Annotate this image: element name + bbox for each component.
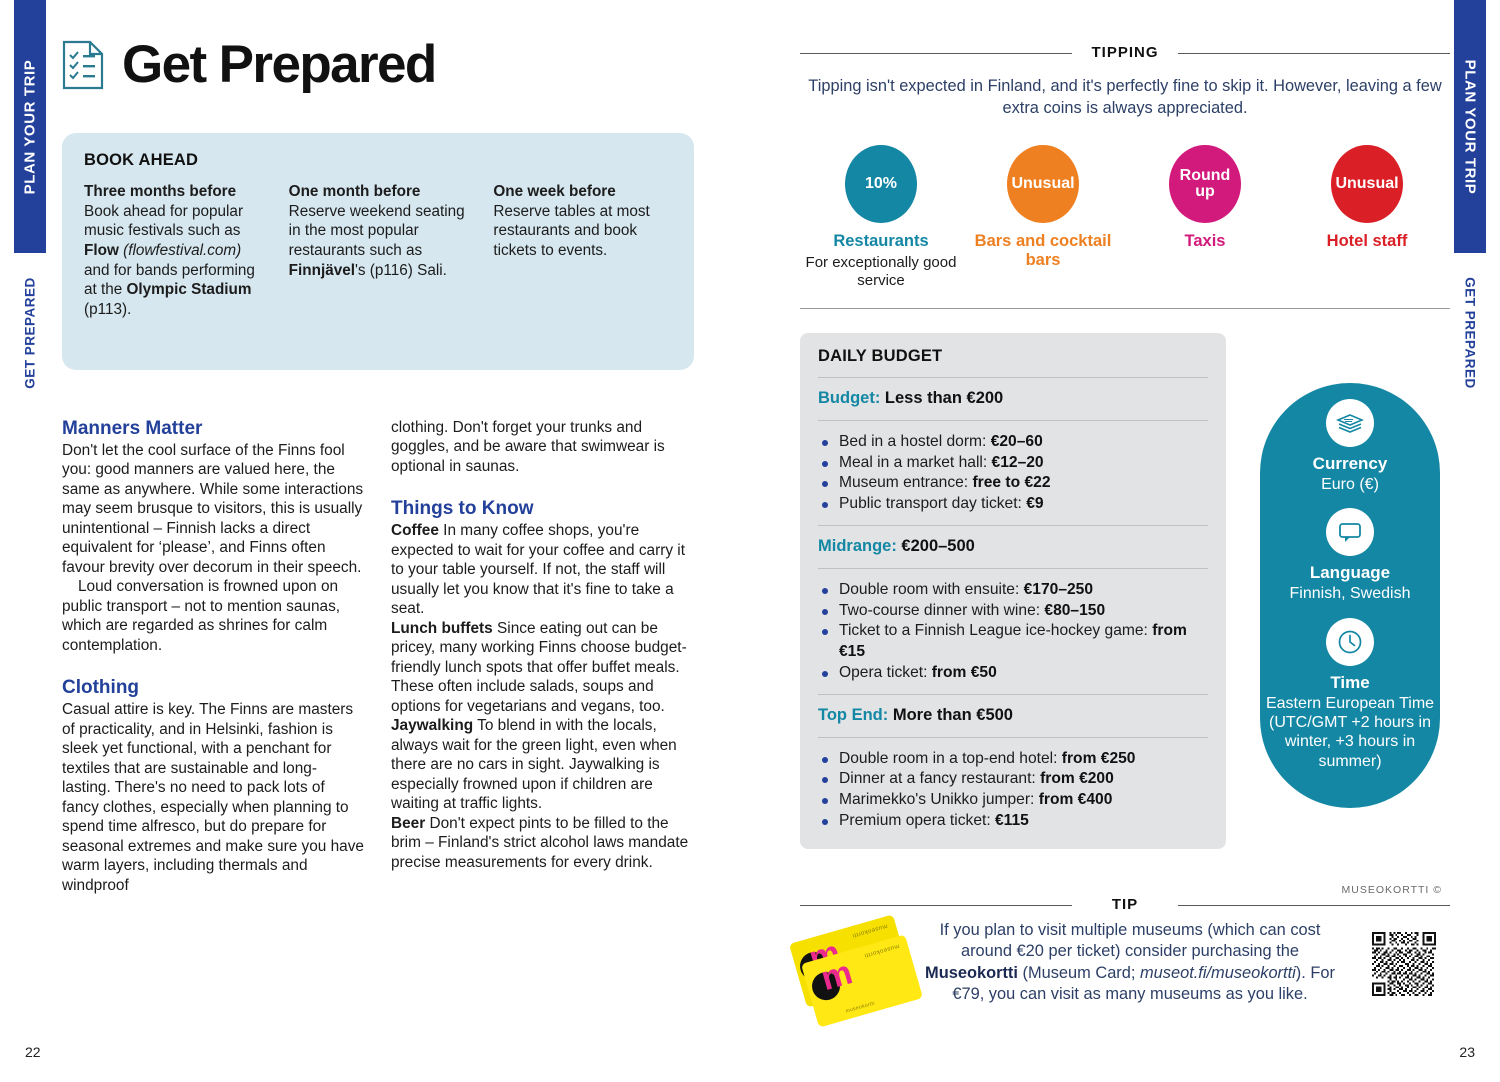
budget-list-item: Opera ticket: from €50 [818,663,1208,684]
tip-text: If you plan to visit multiple museums (w… [920,920,1340,1006]
tier-name: Budget: [818,389,880,407]
tipping-label-taxis: Taxis [1124,232,1286,251]
photo-credit: MUSEOKORTTI © [1342,884,1442,896]
tipping-section-header: TIPPING [800,44,1450,62]
spine-subtab-get-prepared-left: GET PREPARED [14,253,46,413]
tipping-sub-restaurants: For exceptionally good service [800,254,962,290]
fact-currency: Currency Euro (€) [1260,399,1440,494]
budget-list-item: Bed in a hostel dorm: €20–60 [818,432,1208,453]
tipping-intro-text: Tipping isn't expected in Finland, and i… [800,76,1450,119]
fact-title-currency: Currency [1260,454,1440,474]
item-price: €12–20 [992,454,1044,471]
item-price: free to €22 [972,474,1050,491]
tip-section-header: TIP [800,896,1450,914]
spine-tab-label-left: PLAN YOUR TRIP [22,59,39,194]
book-ahead-bold: Olympic Stadium [127,281,252,298]
budget-list-item: Double room in a top-end hotel: from €25… [818,749,1208,770]
fact-time: Time Eastern European Time (UTC/GMT +2 h… [1260,618,1440,771]
item-text: Bed in a hostel dorm: [839,433,991,450]
clothing-paragraph: Casual attire is key. The Finns are mast… [62,700,365,895]
museum-card-photo: m museokortti m museokortti museokortti [790,918,930,1023]
page-number-left: 22 [25,1044,41,1060]
book-ahead-text: Reserve weekend seating in the most popu… [289,203,465,259]
tier-value: €200–500 [897,537,975,555]
item-text: Ticket to a Finnish League ice-hockey ga… [839,622,1152,639]
entry-text: Don't expect pints to be filled to the b… [391,815,688,871]
tipping-label-bars: Bars and cocktail bars [962,232,1124,270]
tipping-badge-bars: Unusual [1007,145,1079,223]
item-text: Premium opera ticket: [839,812,995,829]
fact-title-time: Time [1260,673,1440,693]
budget-list-item: Double room with ensuite: €170–250 [818,580,1208,601]
budget-list-item: Ticket to a Finnish League ice-hockey ga… [818,621,1208,662]
section-heading-clothing: Clothing [62,677,365,699]
budget-tier-list: Bed in a hostel dorm: €20–60 Meal in a m… [818,432,1208,514]
manners-paragraph-2: Loud conversation is frowned upon on pub… [62,577,365,655]
item-text: Public transport day ticket: [839,495,1026,512]
clock-icon [1326,618,1374,666]
item-price: from €200 [1040,770,1114,787]
tip-block: TIP m museokortti m museokortti museokor… [800,896,1450,914]
page-title-row: Get Prepared [62,38,436,91]
card-brand-text: museokortti [852,922,889,938]
tipping-item-bars: Unusual Bars and cocktail bars [962,145,1124,290]
things-to-know-entry: Lunch buffets Since eating out can be pr… [391,619,694,716]
book-ahead-panel: BOOK AHEAD Three months before Book ahea… [62,133,694,370]
budget-list-item: Public transport day ticket: €9 [818,494,1208,515]
book-ahead-text: 's (p116) Sali. [355,262,447,279]
tier-value: More than €500 [888,706,1013,724]
right-page: TIPPING Tipping isn't expected in Finlan… [800,0,1450,1082]
tier-value: Less than €200 [880,389,1003,407]
item-text: Museum entrance: [839,474,972,491]
tipping-item-hotel-staff: Unusual Hotel staff [1286,145,1448,290]
tip-text-part: If you plan to visit multiple museums (w… [940,921,1321,960]
things-to-know-entry: Jaywalking To blend in with the locals, … [391,716,694,813]
budget-list-item: Marimekko's Unikko jumper: from €400 [818,790,1208,811]
budget-tier-heading: Budget: Less than €200 [818,389,1208,409]
budget-tier-list: Double room in a top-end hotel: from €25… [818,749,1208,831]
divider [818,568,1208,569]
tip-text-part: (Museum Card; [1018,964,1140,982]
book-ahead-text: (p113). [84,301,131,318]
divider [818,420,1208,421]
left-page: Get Prepared BOOK AHEAD Three months bef… [62,0,712,1082]
item-text: Double room with ensuite: [839,581,1024,598]
tipping-badge-taxis: Round up [1169,145,1241,223]
book-spread: PLAN YOUR TRIP GET PREPARED PLAN YOUR TR… [0,0,1500,1082]
book-ahead-column-heading: One month before [289,182,468,202]
budget-list-item: Two-course dinner with wine: €80–150 [818,601,1208,622]
budget-tier-heading: Top End: More than €500 [818,706,1208,726]
item-price: €115 [995,812,1029,829]
tipping-item-taxis: Round up Taxis [1124,145,1286,290]
spine-tab-plan-your-trip-left: PLAN YOUR TRIP [14,0,46,253]
item-price: €170–250 [1024,581,1093,598]
things-to-know-entry: Beer Don't expect pints to be filled to … [391,814,694,872]
tip-url: museot.fi/museokortti [1140,964,1296,982]
divider [818,525,1208,526]
book-ahead-bold: Flow [84,242,119,259]
budget-tier-list: Double room with ensuite: €170–250 Two-c… [818,580,1208,683]
item-text: Dinner at a fancy restaurant: [839,770,1040,787]
speech-bubble-icon [1326,508,1374,556]
manners-paragraph-1: Don't let the cool surface of the Finns … [62,441,365,577]
budget-list-item: Meal in a market hall: €12–20 [818,453,1208,474]
daily-budget-panel: DAILY BUDGET Budget: Less than €200 Bed … [800,333,1226,849]
tipping-label-restaurants: Restaurants [800,232,962,251]
budget-list-item: Premium opera ticket: €115 [818,811,1208,832]
banknotes-icon [1326,399,1374,447]
section-heading-manners-matter: Manners Matter [62,418,365,440]
book-ahead-column: Three months before Book ahead for popul… [84,182,263,320]
book-ahead-columns: Three months before Book ahead for popul… [84,182,672,320]
tip-bold: Museokortti [925,964,1018,982]
divider [818,737,1208,738]
fact-language: Language Finnish, Swedish [1260,508,1440,603]
item-price: from €50 [932,664,997,681]
card-brand-text-small: museokortti [845,1000,876,1014]
left-page-body-columns: Manners Matter Don't let the cool surfac… [62,418,694,895]
book-ahead-column: One week before Reserve tables at most r… [493,182,672,320]
tipping-badge-hotel-staff: Unusual [1331,145,1403,223]
fact-title-language: Language [1260,563,1440,583]
spine-tab-label-right: PLAN YOUR TRIP [1462,59,1479,194]
item-price: €80–150 [1044,602,1105,619]
tipping-circles: 10% Restaurants For exceptionally good s… [800,145,1450,290]
item-text: Two-course dinner with wine: [839,602,1044,619]
book-ahead-italic: (flowfestival.com) [119,242,241,259]
book-ahead-text: Reserve tables at most restaurants and b… [493,203,649,259]
item-text: Meal in a market hall: [839,454,992,471]
tip-heading: TIP [1102,896,1148,913]
entry-term: Coffee [391,522,439,539]
page-number-right: 23 [1459,1044,1475,1060]
book-ahead-heading: BOOK AHEAD [84,151,672,170]
divider [818,694,1208,695]
book-ahead-text: Book ahead for popular music festivals s… [84,203,243,240]
budget-list-item: Dinner at a fancy restaurant: from €200 [818,769,1208,790]
item-price: from €400 [1039,791,1113,808]
section-heading-things-to-know: Things to Know [391,498,694,520]
entry-term: Jaywalking [391,717,473,734]
tier-name: Top End: [818,706,888,724]
tipping-item-restaurants: 10% Restaurants For exceptionally good s… [800,145,962,290]
spine-subtab-get-prepared-right: GET PREPARED [1454,253,1486,413]
tipping-badge-restaurants: 10% [845,145,917,223]
item-text: Marimekko's Unikko jumper: [839,791,1039,808]
budget-tier-heading: Midrange: €200–500 [818,537,1208,557]
spine-subtab-label-right: GET PREPARED [1463,277,1478,389]
book-ahead-column: One month before Reserve weekend seating… [289,182,468,320]
item-price: €9 [1026,495,1043,512]
budget-list-item: Museum entrance: free to €22 [818,473,1208,494]
item-text: Double room in a top-end hotel: [839,750,1062,767]
tier-name: Midrange: [818,537,897,555]
daily-budget-heading: DAILY BUDGET [818,347,1208,366]
spine-tab-plan-your-trip-right: PLAN YOUR TRIP [1454,0,1486,253]
country-facts-pill: Currency Euro (€) Language Finnish, Swed… [1260,383,1440,808]
book-ahead-bold: Finnjävel [289,262,355,279]
item-price: €20–60 [991,433,1043,450]
spine-subtab-label-left: GET PREPARED [23,277,38,389]
fact-text-language: Finnish, Swedish [1260,584,1440,603]
body-column-2: clothing. Don't forget your trunks and g… [391,418,694,895]
item-text: Opera ticket: [839,664,932,681]
book-ahead-column-heading: Three months before [84,182,263,202]
qr-code-icon[interactable] [1372,932,1436,996]
clothing-paragraph-continued: clothing. Don't forget your trunks and g… [391,418,694,476]
entry-term: Beer [391,815,425,832]
fact-text-currency: Euro (€) [1260,475,1440,494]
item-price: from €250 [1062,750,1136,767]
fact-text-time: Eastern European Time (UTC/GMT +2 hours … [1260,694,1440,771]
section-divider [800,308,1450,309]
book-ahead-column-heading: One week before [493,182,672,202]
card-logo-letter: m [819,959,856,993]
entry-term: Lunch buffets [391,620,493,637]
tipping-label-hotel-staff: Hotel staff [1286,232,1448,251]
things-to-know-entry: Coffee In many coffee shops, you're expe… [391,521,694,618]
checklist-document-icon [62,40,104,90]
tipping-heading: TIPPING [1081,44,1168,61]
page-title: Get Prepared [122,38,436,91]
body-column-1: Manners Matter Don't let the cool surfac… [62,418,365,895]
divider [818,377,1208,378]
card-brand-text: museokortti [864,942,901,958]
